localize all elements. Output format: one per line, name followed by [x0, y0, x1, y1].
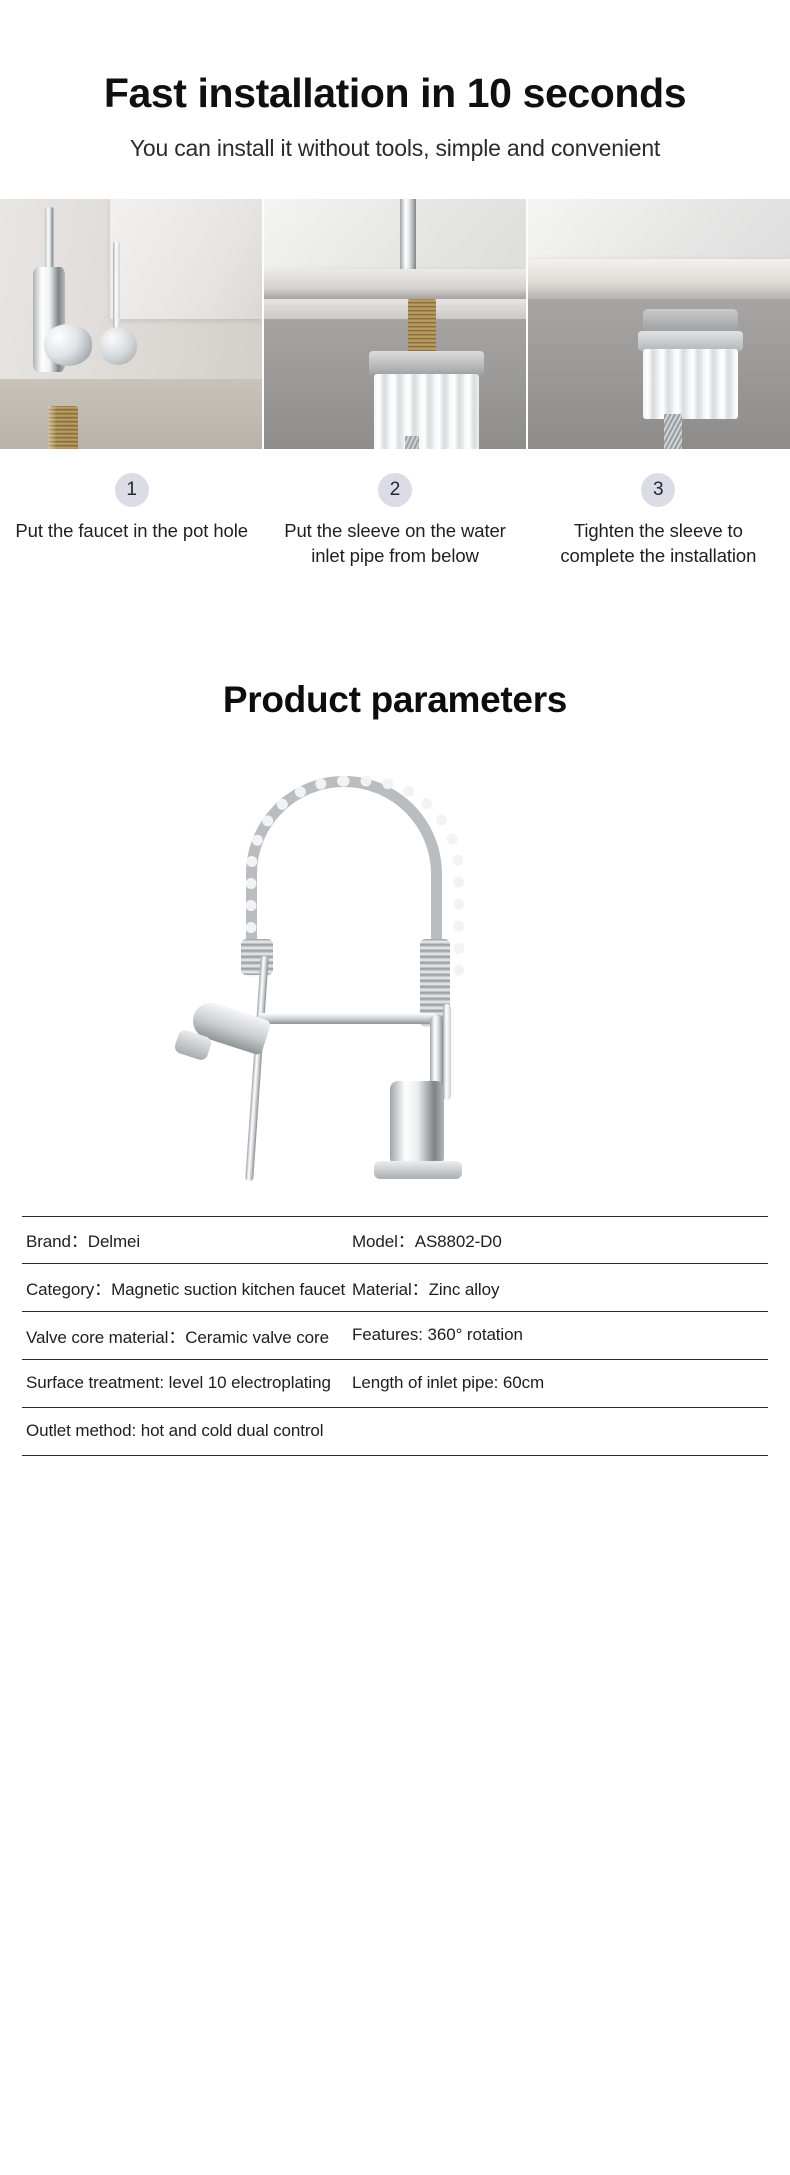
photo3-marble-counter — [528, 259, 790, 299]
crossbar-icon — [258, 1013, 438, 1024]
installation-steps: 1 Put the faucet in the pot hole 2 Put t… — [0, 473, 790, 569]
table-row: Brand：Delmei Model：AS8802-D0 — [22, 1216, 768, 1264]
spec-cell-right: Features: 360° rotation — [352, 1325, 768, 1345]
install-photo-step-2 — [264, 199, 526, 449]
faucet-lever-cap-icon — [99, 327, 137, 365]
step-item-2: 2 Put the sleeve on the water inlet pipe… — [263, 473, 526, 569]
spring-coil-icon — [246, 776, 442, 966]
table-row: Category：Magnetic suction kitchen faucet… — [22, 1264, 768, 1312]
photo3-braided-hose-icon — [664, 414, 682, 449]
spec-cell-left: Category：Magnetic suction kitchen faucet — [22, 1275, 352, 1300]
photo2-braided-hose-icon — [405, 436, 419, 449]
faucet-base-knob-icon — [420, 1091, 478, 1143]
step-caption: Tighten the sleeve to complete the insta… — [541, 519, 776, 569]
step-item-3: 3 Tighten the sleeve to complete the ins… — [527, 473, 790, 569]
installation-photo-strip — [0, 199, 790, 449]
spec-cell-left: Brand：Delmei — [22, 1227, 352, 1252]
spec-cell-right: Model：AS8802-D0 — [352, 1227, 768, 1252]
faucet-lever-icon — [113, 241, 120, 339]
photo3-cap-icon — [643, 309, 737, 331]
step-item-1: 1 Put the faucet in the pot hole — [0, 473, 263, 569]
step-caption: Put the faucet in the pot hole — [14, 519, 249, 544]
spray-arm-icon — [245, 956, 269, 1181]
step-number-badge: 3 — [641, 473, 675, 507]
faucet-handle-icon — [443, 1004, 451, 1100]
faucet-spout-icon — [44, 324, 92, 366]
faucet-base-plate-icon — [374, 1161, 462, 1179]
spec-cell-left: Valve core material：Ceramic valve core — [22, 1323, 352, 1348]
install-header: Fast installation in 10 seconds You can … — [0, 0, 790, 163]
step-caption: Put the sleeve on the water inlet pipe f… — [277, 519, 512, 569]
spec-cell-left: Surface treatment: level 10 electroplati… — [22, 1373, 352, 1393]
step-number-badge: 1 — [115, 473, 149, 507]
spec-cell-right: Material：Zinc alloy — [352, 1275, 768, 1300]
spec-cell-left: Outlet method: hot and cold dual control — [22, 1421, 352, 1441]
table-row: Surface treatment: level 10 electroplati… — [22, 1360, 768, 1408]
step-number-badge: 2 — [378, 473, 412, 507]
photo3-sleeve-icon — [643, 349, 737, 419]
photo1-countertop — [110, 199, 262, 319]
photo2-chrome-pipe — [400, 199, 416, 279]
install-photo-step-1 — [0, 199, 262, 449]
table-row: Valve core material：Ceramic valve core F… — [22, 1312, 768, 1360]
page-title: Fast installation in 10 seconds — [0, 70, 790, 117]
product-detail-page: Fast installation in 10 seconds You can … — [0, 0, 790, 2175]
photo1-floor — [0, 379, 262, 449]
install-photo-step-3 — [528, 199, 790, 449]
product-hero-image — [0, 761, 790, 1216]
photo2-sleeve-icon — [374, 374, 479, 449]
brass-thread-highlight — [48, 406, 57, 449]
photo2-counter-slab — [264, 269, 526, 302]
specification-table: Brand：Delmei Model：AS8802-D0 Category：Ma… — [22, 1216, 768, 1456]
page-subtitle: You can install it without tools, simple… — [0, 135, 790, 163]
spec-cell-right: Length of inlet pipe: 60cm — [352, 1373, 768, 1393]
photo2-counter-slab-lower — [264, 299, 526, 319]
section-title-product-parameters: Product parameters — [0, 679, 790, 721]
table-row: Outlet method: hot and cold dual control — [22, 1408, 768, 1456]
photo2-wall — [264, 199, 526, 274]
